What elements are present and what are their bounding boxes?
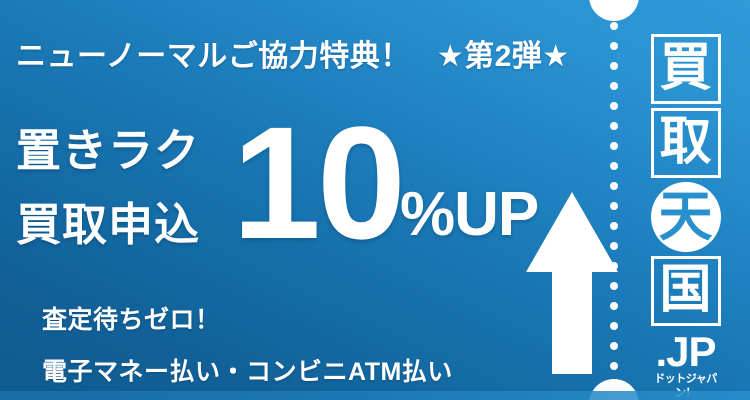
- perforation-dot: [610, 22, 618, 30]
- offer-service-line-2: 買取申込: [16, 188, 200, 262]
- perforation-dot: [610, 62, 618, 70]
- logo-tld: .JP: [647, 332, 725, 372]
- campaign-title: ニューノーマルご協力特典！: [16, 40, 411, 73]
- perforation-dot: [610, 302, 618, 310]
- perforation-dot: [610, 162, 618, 170]
- offer-percentage: 10 %UP: [232, 108, 538, 258]
- perforation-dot: [610, 282, 618, 290]
- brand-logo: 買 取 天 国 .JP ドットジャパン！: [621, 0, 750, 400]
- logo-reading: ドットジャパン！: [647, 372, 725, 400]
- perforation-dot: [610, 262, 618, 270]
- perforation-dot: [610, 42, 618, 50]
- perforation-dot: [610, 102, 618, 110]
- offer-number: 10: [232, 108, 402, 258]
- campaign-headline: ニューノーマルご協力特典！★第2弾★: [16, 31, 570, 75]
- logo-kanji-3: 天: [651, 182, 721, 252]
- logo-kanji-1: 買: [651, 34, 721, 104]
- benefit-line-2: 電子マネー払い・コンビニATM払い: [42, 352, 453, 388]
- perforation-dot: [610, 122, 618, 130]
- offer-service-line-1: 置きラク: [16, 114, 200, 188]
- perforation-dot: [610, 202, 618, 210]
- offer-service-name: 置きラク 買取申込: [16, 114, 200, 262]
- perforation-dot: [610, 382, 618, 390]
- offer-block: 置きラク 買取申込 10 %UP: [16, 108, 596, 276]
- perforation-dot: [610, 242, 618, 250]
- benefit-line-1: 査定待ちゼロ！: [42, 300, 221, 336]
- perforated-divider: [607, 0, 621, 400]
- perforation-dot: [610, 342, 618, 350]
- perforation-dot: [610, 362, 618, 370]
- offer-unit: %UP: [400, 184, 538, 258]
- perforation-dot: [610, 222, 618, 230]
- up-arrow-icon: [524, 190, 620, 376]
- logo-kanji-2: 取: [651, 108, 721, 178]
- promotional-banner: ニューノーマルご協力特典！★第2弾★ 置きラク 買取申込 10 %UP 査定待ち…: [0, 0, 750, 400]
- logo-kanji-4: 国: [651, 256, 721, 326]
- perforation-dot: [610, 142, 618, 150]
- campaign-edition-badge: ★第2弾★: [437, 40, 570, 73]
- banner-content: ニューノーマルご協力特典！★第2弾★ 置きラク 買取申込 10 %UP 査定待ち…: [0, 0, 613, 400]
- perforation-dot: [610, 82, 618, 90]
- perforation-dot: [610, 182, 618, 190]
- perforation-dot: [610, 322, 618, 330]
